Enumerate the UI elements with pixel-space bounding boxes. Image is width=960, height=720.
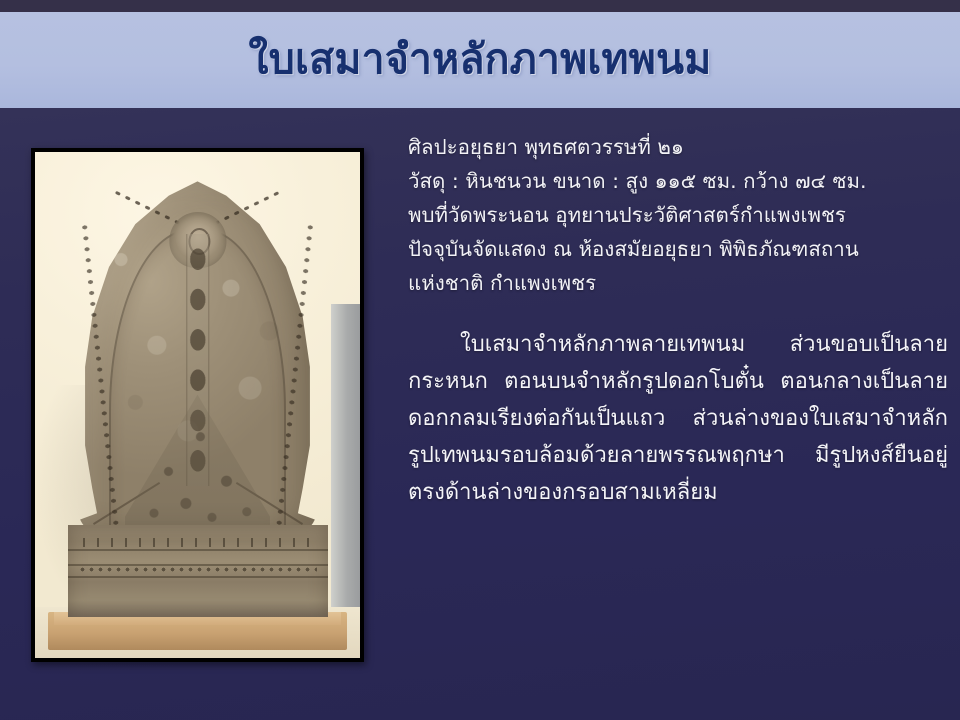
artifact-photo-frame [31,148,364,662]
info-line-period: ศิลปะอยุธยา พุทธศตวรรษที่ ๒๑ [408,130,948,164]
artifact-description-block: ใบเสมาจำหลักภาพลายเทพนม ส่วนขอบเป็นลายกร… [408,326,948,511]
pedestal-tooth-band [83,538,312,547]
wall-grey-panel [331,304,360,658]
wooden-plinth [48,612,347,650]
description-paragraph: ใบเสมาจำหลักภาพลายเทพนม ส่วนขอบเป็นลายกร… [408,326,948,511]
pedestal-moulding-line [68,576,328,578]
info-line-material: วัสดุ : หินชนวน ขนาด : สูง ๑๑๕ ซม. กว้าง… [408,164,948,198]
pedestal-bead-band [78,567,317,572]
pedestal-moulding-line [68,564,328,566]
info-line-findsite: พบที่วัดพระนอน อุทยานประวัติศาสตร์กำแพงเ… [408,198,948,232]
header-top-strip [0,0,960,12]
artifact-info-block: ศิลปะอยุธยา พุทธศตวรรษที่ ๒๑ วัสดุ : หิน… [408,130,948,300]
header-band: ใบเสมาจำหลักภาพเทพนม [0,12,960,108]
sema-pedestal-base [68,525,328,616]
info-line-museum: แห่งชาติ กำแพงเพชร [408,266,948,300]
slide-root: ใบเสมาจำหลักภาพเทพนม [0,0,960,720]
artifact-photo [35,152,360,658]
page-title: ใบเสมาจำหลักภาพเทพนม [249,38,712,81]
slide-content: ศิลปะอยุธยา พุทธศตวรรษที่ ๒๑ วัสดุ : หิน… [0,108,960,720]
info-line-display: ปัจจุบันจัดแสดง ณ ห้องสมัยอยุธยา พิพิธภั… [408,232,948,266]
sema-stone [68,181,328,616]
text-column: ศิลปะอยุธยา พุทธศตวรรษที่ ๒๑ วัสดุ : หิน… [408,130,948,511]
pedestal-moulding-line [68,549,328,551]
sema-stone-body [68,181,328,616]
